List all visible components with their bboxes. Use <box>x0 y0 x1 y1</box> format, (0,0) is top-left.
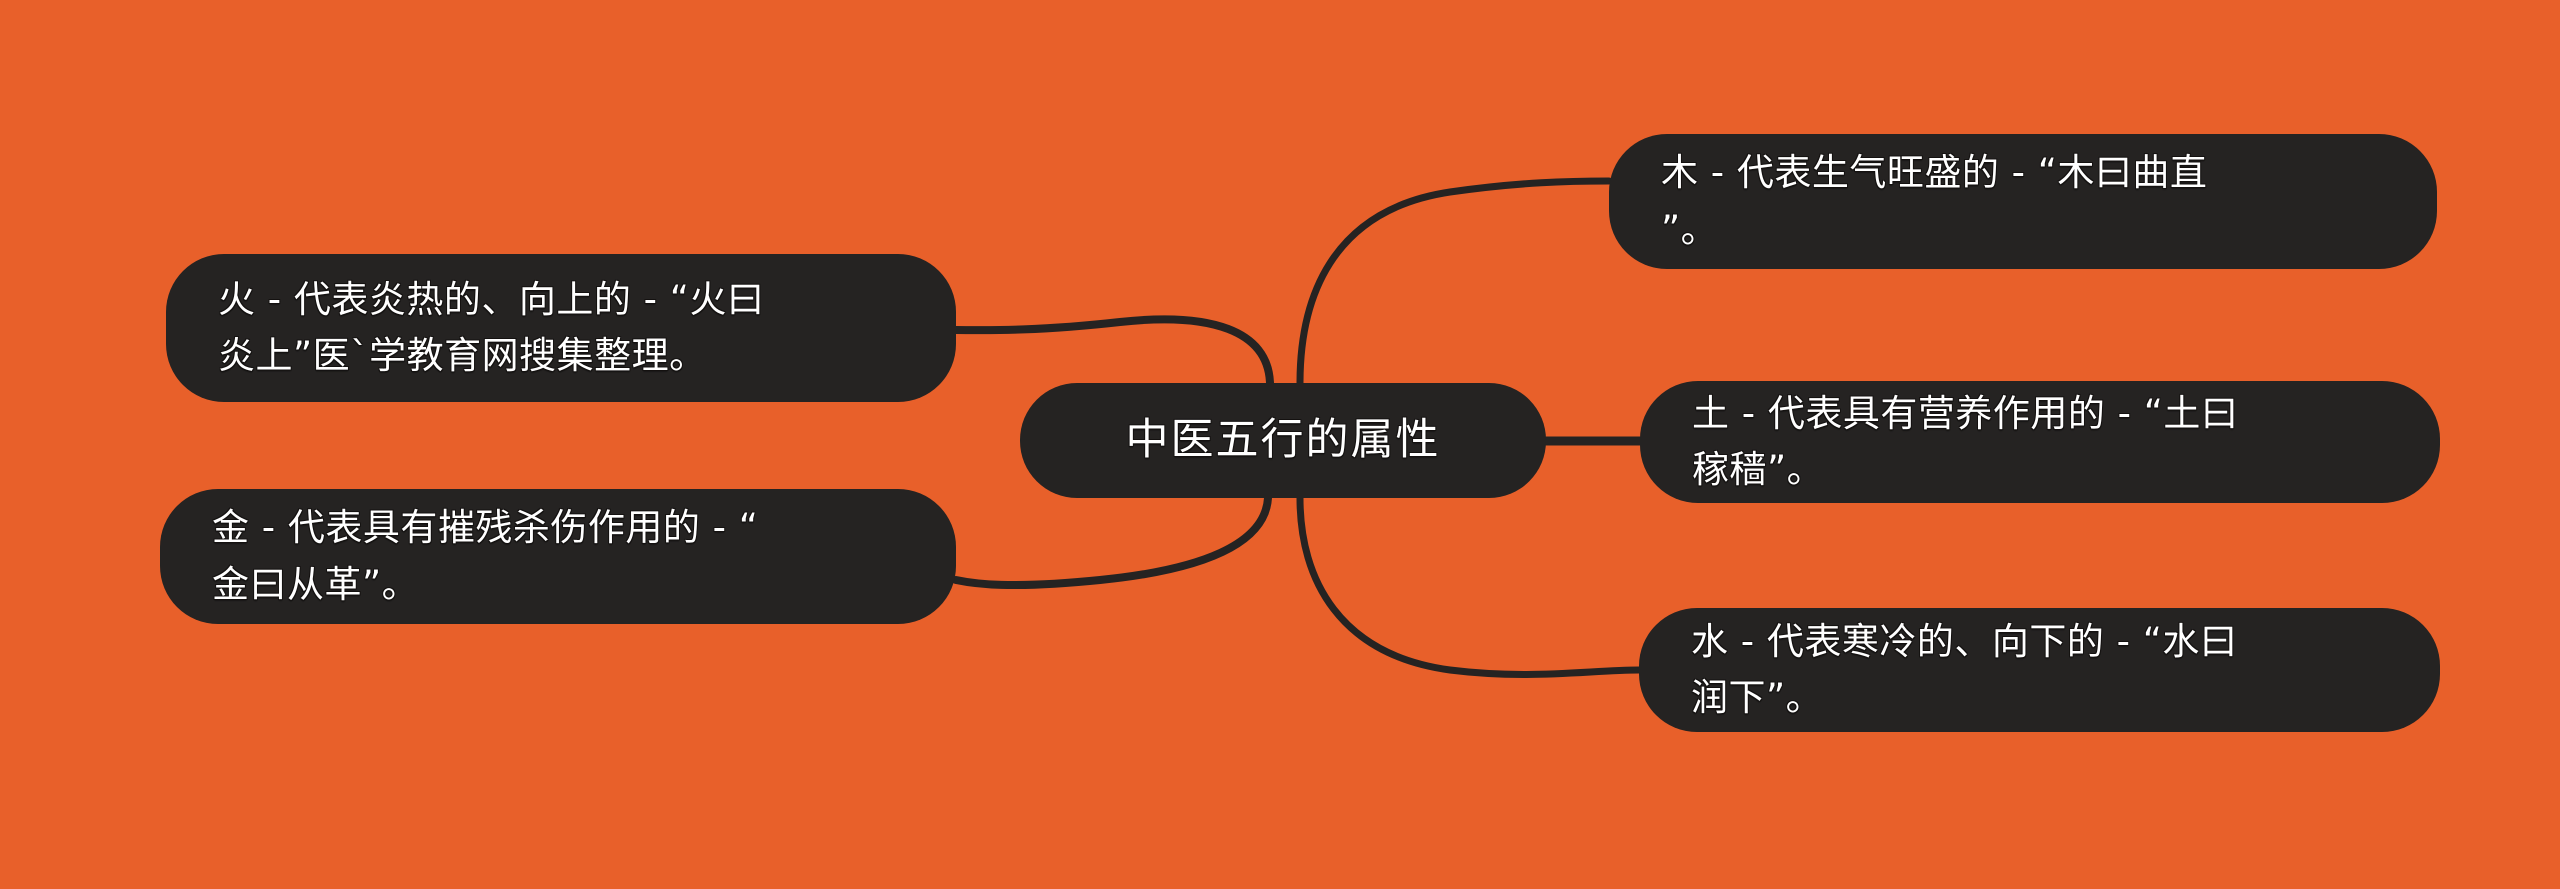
mindmap-canvas: 中医五行的属性 火 - 代表炎热的、向上的 - “火曰 炎上”医`学教育网搜集整… <box>0 0 2560 889</box>
edge-center-to-fire <box>956 319 1270 383</box>
edge-center-to-water <box>1300 498 1639 674</box>
root-node-center[interactable]: 中医五行的属性 <box>1020 383 1546 498</box>
branch-node-earth[interactable]: 土 - 代表具有营养作用的 - “土曰 稼穑”。 <box>1640 381 2440 503</box>
branch-node-wood-label: 木 - 代表生气旺盛的 - “木曰曲直 ”。 <box>1661 145 2207 257</box>
branch-node-wood[interactable]: 木 - 代表生气旺盛的 - “木曰曲直 ”。 <box>1609 134 2437 269</box>
edge-center-to-wood <box>1300 181 1609 383</box>
branch-node-water-label: 水 - 代表寒冷的、向下的 - “水曰 润下”。 <box>1691 614 2237 726</box>
branch-node-metal-label: 金 - 代表具有摧残杀伤作用的 - “ 金曰从革”。 <box>212 500 758 612</box>
branch-node-water[interactable]: 水 - 代表寒冷的、向下的 - “水曰 润下”。 <box>1639 608 2440 732</box>
branch-node-fire[interactable]: 火 - 代表炎热的、向上的 - “火曰 炎上”医`学教育网搜集整理。 <box>166 254 956 402</box>
root-node-label: 中医五行的属性 <box>1126 415 1441 467</box>
edge-center-to-metal <box>956 498 1268 585</box>
branch-node-metal[interactable]: 金 - 代表具有摧残杀伤作用的 - “ 金曰从革”。 <box>160 489 956 624</box>
branch-node-earth-label: 土 - 代表具有营养作用的 - “土曰 稼穑”。 <box>1692 386 2238 498</box>
branch-node-fire-label: 火 - 代表炎热的、向上的 - “火曰 炎上”医`学教育网搜集整理。 <box>218 272 764 384</box>
